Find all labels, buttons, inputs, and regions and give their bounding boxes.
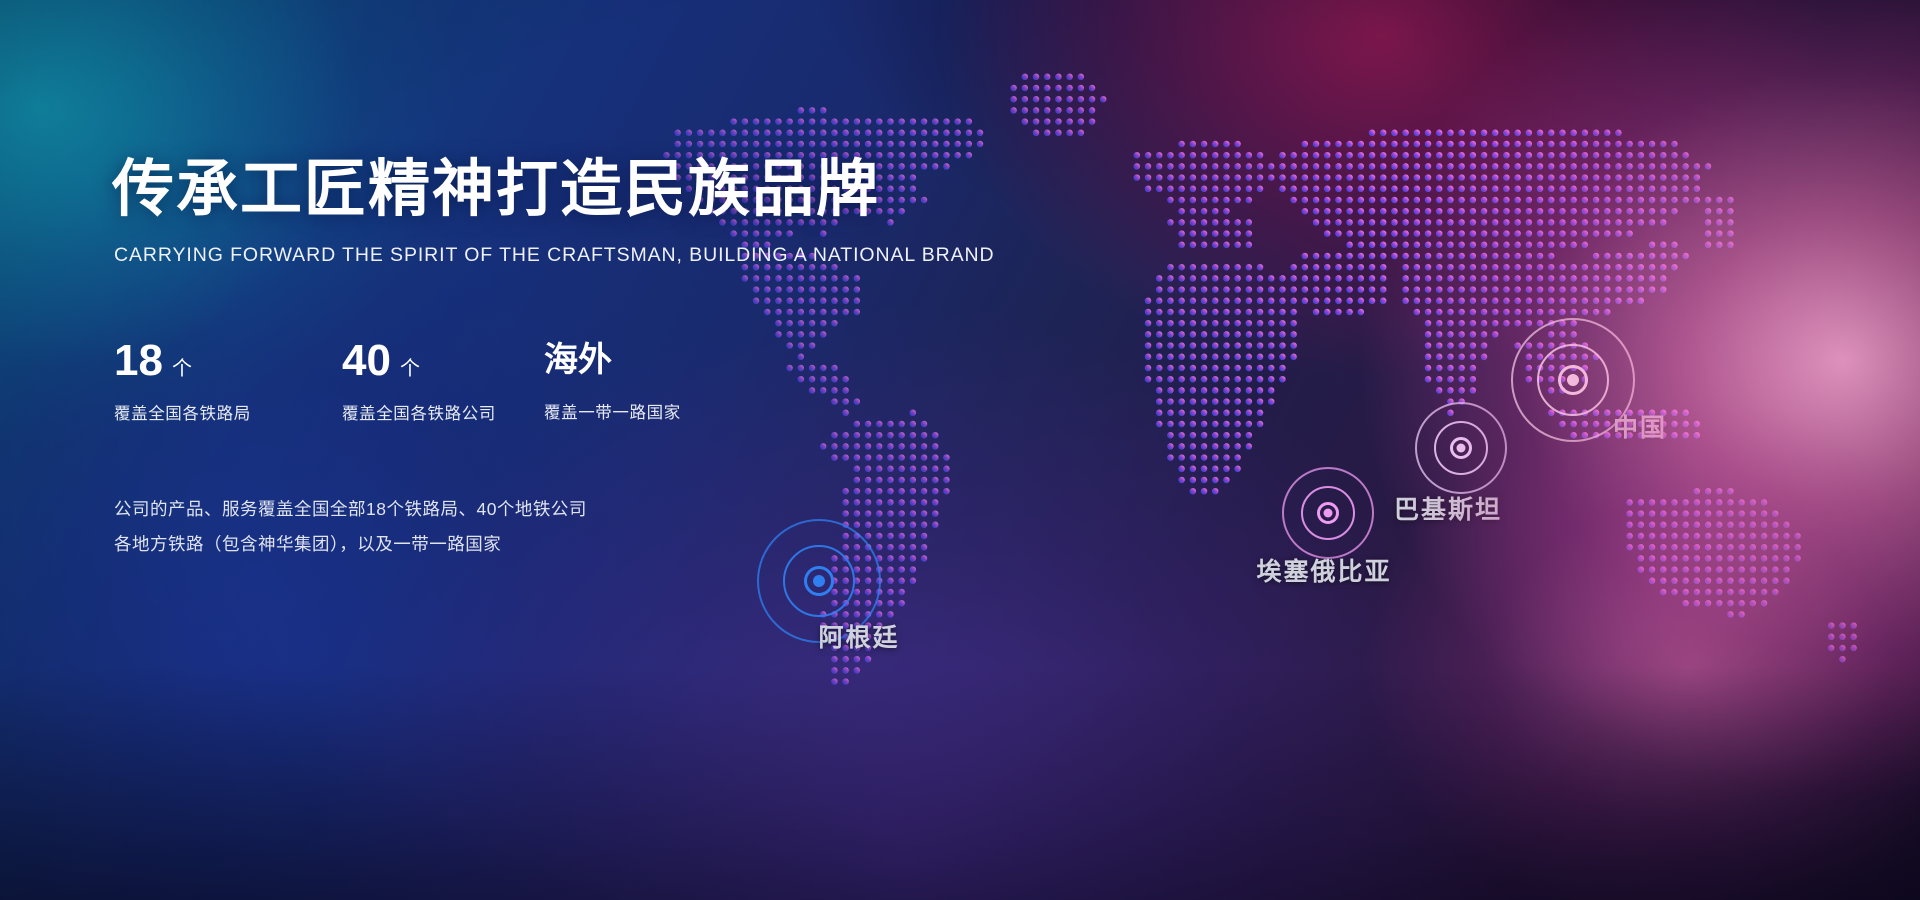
stat-item-overseas: 海外 覆盖一带一路国家 xyxy=(544,339,681,424)
stat-value-wrap: 40 个 xyxy=(342,339,544,383)
page-subtitle: CARRYING FORWARD THE SPIRIT OF THE CRAFT… xyxy=(114,244,912,267)
hero-copy: 传承工匠精神打造民族品牌 CARRYING FORWARD THE SPIRIT… xyxy=(112,155,912,562)
hero-banner: 中国巴基斯坦埃塞俄比亚阿根廷 传承工匠精神打造民族品牌 CARRYING FOR… xyxy=(0,0,1920,900)
stat-unit: 个 xyxy=(400,359,420,379)
page-title: 传承工匠精神打造民族品牌 xyxy=(112,155,912,224)
stats-row: 18 个 覆盖全国各铁路局 40 个 覆盖全国各铁路公司 海外 覆盖一带一路国家 xyxy=(114,339,912,424)
description-line-2: 各地方铁路（包含神华集团），以及一带一路国家 xyxy=(114,527,912,562)
stat-caption: 覆盖一带一路国家 xyxy=(544,399,681,423)
stat-unit: 个 xyxy=(172,359,192,379)
stat-value: 海外 xyxy=(544,339,681,382)
stat-item-railway-bureaus: 18 个 覆盖全国各铁路局 xyxy=(114,339,342,424)
stat-value-wrap: 18 个 xyxy=(114,339,342,383)
stat-value: 40 xyxy=(342,339,391,383)
description-block: 公司的产品、服务覆盖全国全部18个铁路局、40个地铁公司 各地方铁路（包含神华集… xyxy=(114,492,912,562)
stat-caption: 覆盖全国各铁路公司 xyxy=(342,400,544,424)
description-line-1: 公司的产品、服务覆盖全国全部18个铁路局、40个地铁公司 xyxy=(114,492,912,527)
stat-caption: 覆盖全国各铁路局 xyxy=(114,400,342,424)
stat-item-metro-companies: 40 个 覆盖全国各铁路公司 xyxy=(342,339,544,424)
stat-value: 18 xyxy=(114,339,163,383)
